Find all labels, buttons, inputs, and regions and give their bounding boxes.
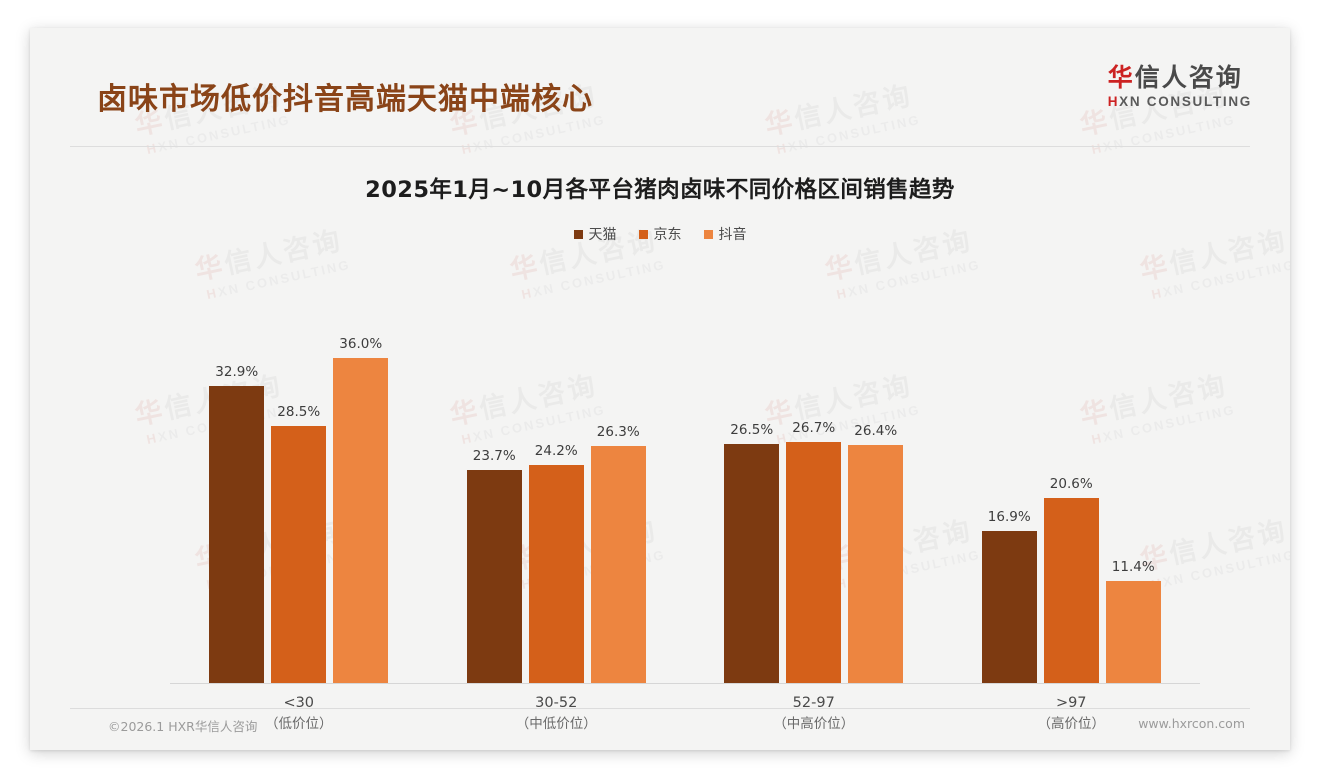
bar-column: 36.0% — [333, 284, 388, 684]
brand-logo-cn-rest: 信人咨询 — [1135, 63, 1243, 92]
chart-title: 2025年1月~10月各平台猪肉卤味不同价格区间销售趋势 — [30, 172, 1290, 204]
bar-value-label: 26.3% — [597, 424, 640, 440]
bar-group-<30: 32.9%28.5%36.0% — [170, 284, 428, 684]
slide-header: 卤味市场低价抖音高端天猫中端核心 华信人咨询 HXN CONSULTING — [30, 28, 1290, 114]
bar-京东->97[interactable] — [1044, 498, 1099, 684]
brand-logo-cn: 华信人咨询 — [1108, 65, 1252, 91]
bar-column: 32.9% — [209, 284, 264, 684]
bar-抖音->97[interactable] — [1106, 581, 1161, 684]
x-axis-range: >97 — [943, 692, 1201, 714]
legend-swatch-icon — [704, 230, 713, 239]
footer-copyright: ©2026.1 HXR华信人咨询 — [108, 716, 257, 735]
bar-value-label: 24.2% — [535, 443, 578, 459]
bar-column: 26.3% — [591, 284, 646, 684]
brand-logo-en-red: H — [1108, 94, 1119, 109]
bar-value-label: 26.4% — [854, 423, 897, 439]
bar-value-label: 20.6% — [1050, 476, 1093, 492]
bar-抖音-30-52[interactable] — [591, 446, 646, 684]
legend-label: 抖音 — [719, 224, 747, 244]
bar-column: 26.5% — [724, 284, 779, 684]
x-axis-range: <30 — [170, 692, 428, 714]
slide-canvas: 华信人咨询HXN CONSULTING华信人咨询HXN CONSULTING华信… — [30, 28, 1290, 750]
legend-swatch-icon — [574, 230, 583, 239]
bar-京东-<30[interactable] — [271, 426, 326, 684]
bar-value-label: 16.9% — [988, 509, 1031, 525]
x-axis-range: 52-97 — [685, 692, 943, 714]
bar-京东-30-52[interactable] — [529, 465, 584, 684]
bar-column: 20.6% — [1044, 284, 1099, 684]
x-axis-line — [170, 683, 1200, 684]
bar-column: 26.4% — [848, 284, 903, 684]
bar-抖音-52-97[interactable] — [848, 445, 903, 684]
bar-天猫-30-52[interactable] — [467, 470, 522, 684]
brand-logo: 华信人咨询 HXN CONSULTING — [1108, 65, 1252, 109]
bar-value-label: 26.5% — [730, 422, 773, 438]
bar-value-label: 28.5% — [277, 404, 320, 420]
bar-groups: 32.9%28.5%36.0%23.7%24.2%26.3%26.5%26.7%… — [170, 284, 1200, 684]
bar-column: 11.4% — [1106, 284, 1161, 684]
legend-swatch-icon — [639, 230, 648, 239]
bar-group-30-52: 23.7%24.2%26.3% — [428, 284, 686, 684]
bar-value-label: 36.0% — [339, 336, 382, 352]
bar-column: 24.2% — [529, 284, 584, 684]
footer-divider — [70, 708, 1250, 709]
bar-group-52-97: 26.5%26.7%26.4% — [685, 284, 943, 684]
bar-抖音-<30[interactable] — [333, 358, 388, 684]
legend-item-抖音[interactable]: 抖音 — [704, 224, 747, 244]
footer-website[interactable]: www.hxrcon.com — [1138, 716, 1245, 731]
chart-legend: 天猫京东抖音 — [30, 224, 1290, 244]
brand-logo-en: HXN CONSULTING — [1108, 94, 1252, 109]
bar-column: 16.9% — [982, 284, 1037, 684]
bar-value-label: 23.7% — [473, 448, 516, 464]
brand-logo-cn-red: 华 — [1108, 63, 1135, 92]
bar-column: 28.5% — [271, 284, 326, 684]
legend-item-京东[interactable]: 京东 — [639, 224, 682, 244]
bar-group->97: 16.9%20.6%11.4% — [943, 284, 1201, 684]
legend-item-天猫[interactable]: 天猫 — [574, 224, 617, 244]
bar-column: 23.7% — [467, 284, 522, 684]
bar-value-label: 11.4% — [1112, 559, 1155, 575]
header-divider — [70, 146, 1250, 147]
bar-京东-52-97[interactable] — [786, 442, 841, 684]
bar-column: 26.7% — [786, 284, 841, 684]
bar-天猫-<30[interactable] — [209, 386, 264, 684]
bar-value-label: 26.7% — [792, 420, 835, 436]
chart-plot-area: 32.9%28.5%36.0%23.7%24.2%26.3%26.5%26.7%… — [170, 284, 1200, 684]
bar-天猫->97[interactable] — [982, 531, 1037, 684]
bar-天猫-52-97[interactable] — [724, 444, 779, 684]
x-axis-range: 30-52 — [428, 692, 686, 714]
legend-label: 京东 — [654, 224, 682, 244]
bar-value-label: 32.9% — [215, 364, 258, 380]
chart-container: 2025年1月~10月各平台猪肉卤味不同价格区间销售趋势 天猫京东抖音 32.9… — [30, 146, 1290, 750]
page-title: 卤味市场低价抖音高端天猫中端核心 — [97, 74, 593, 118]
brand-logo-en-rest: XN CONSULTING — [1119, 94, 1252, 109]
legend-label: 天猫 — [589, 224, 617, 244]
slide-footer: ©2026.1 HXR华信人咨询 www.hxrcon.com — [30, 716, 1290, 738]
